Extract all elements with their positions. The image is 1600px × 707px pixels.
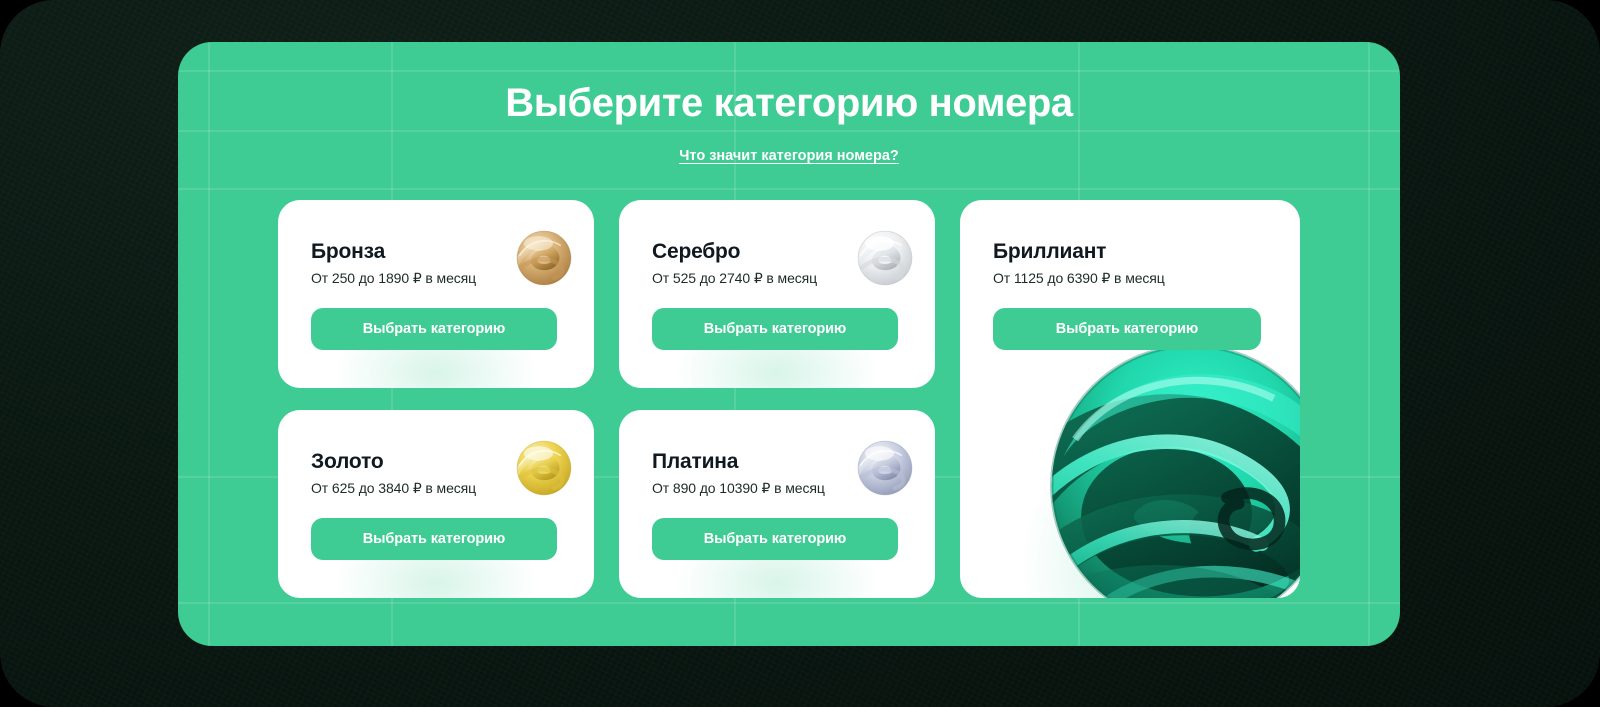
platinum-sphere-icon — [857, 440, 913, 496]
info-link-container: Что значит категория номера? — [178, 147, 1400, 165]
what-is-category-link[interactable]: Что значит категория номера? — [679, 148, 899, 164]
category-card-silver[interactable]: Серебро — [619, 200, 935, 388]
card-header: Бриллиант — [993, 230, 1267, 263]
card-title: Бриллиант — [993, 230, 1106, 263]
bronze-sphere-icon — [516, 230, 572, 286]
card-price: От 890 до 10390 ₽ в месяц — [652, 480, 825, 497]
select-category-button[interactable]: Выбрать категорию — [311, 308, 557, 350]
gold-sphere-icon — [516, 440, 572, 496]
select-category-button[interactable]: Выбрать категорию — [652, 308, 898, 350]
silver-sphere-icon — [857, 230, 913, 286]
card-title: Бронза — [311, 230, 385, 263]
card-price: От 525 до 2740 ₽ в месяц — [652, 270, 817, 287]
page-background: Выберите категорию номера Что значит кат… — [0, 0, 1600, 707]
card-price: От 250 до 1890 ₽ в месяц — [311, 270, 476, 287]
card-price: От 625 до 3840 ₽ в месяц — [311, 480, 476, 497]
category-card-platinum[interactable]: Платина — [619, 410, 935, 598]
category-card-grid: Бронза — [278, 200, 1300, 604]
emerald-sphere-art — [1046, 340, 1300, 598]
card-title: Золото — [311, 440, 383, 473]
page-title: Выберите категорию номера — [178, 79, 1400, 127]
select-category-button[interactable]: Выбрать категорию — [993, 308, 1261, 350]
category-panel: Выберите категорию номера Что значит кат… — [178, 42, 1400, 646]
select-category-button[interactable]: Выбрать категорию — [311, 518, 557, 560]
card-price: От 1125 до 6390 ₽ в месяц — [993, 270, 1165, 287]
select-category-button[interactable]: Выбрать категорию — [652, 518, 898, 560]
card-title: Платина — [652, 440, 738, 473]
category-card-bronze[interactable]: Бронза — [278, 200, 594, 388]
card-title: Серебро — [652, 230, 740, 263]
category-card-gold[interactable]: Золото — [278, 410, 594, 598]
category-card-diamond[interactable]: Бриллиант От 1125 до 6390 ₽ в месяц Выбр… — [960, 200, 1300, 598]
